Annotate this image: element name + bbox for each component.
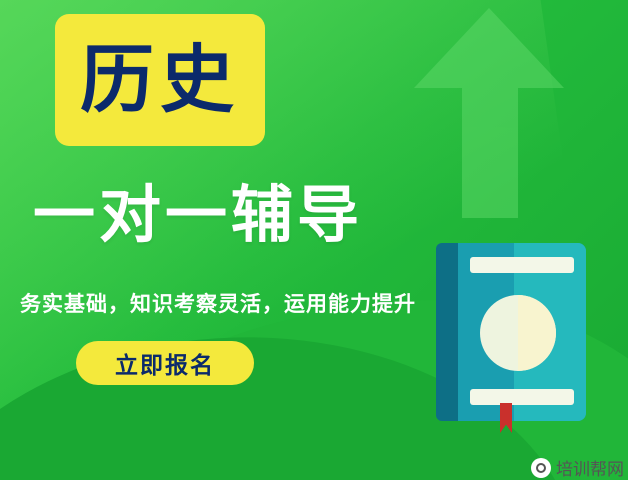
page-edge-right [628,0,634,486]
subject-badge-label: 历史 [80,43,240,117]
subheadline: 务实基础，知识考察灵活，运用能力提升 [20,288,416,318]
arrow-shaft [462,78,518,218]
arrow-head [414,8,564,88]
book-band-bottom [470,389,574,405]
headline: 一对一辅导 [33,182,363,247]
promo-banner: 历史 一对一辅导 务实基础，知识考察灵活，运用能力提升 立即报名 培训帮网 [0,0,634,486]
page-edge-bottom [0,480,634,486]
book-icon [436,243,586,421]
up-arrow-icon [414,8,564,218]
watermark-label: 培训帮网 [556,455,624,480]
subject-badge: 历史 [55,14,265,146]
watermark: 培训帮网 [531,455,624,480]
enroll-button[interactable]: 立即报名 [76,341,254,385]
spiral-logo-icon [531,458,551,478]
book-band-top [470,257,574,273]
enroll-button-label: 立即报名 [115,346,215,380]
